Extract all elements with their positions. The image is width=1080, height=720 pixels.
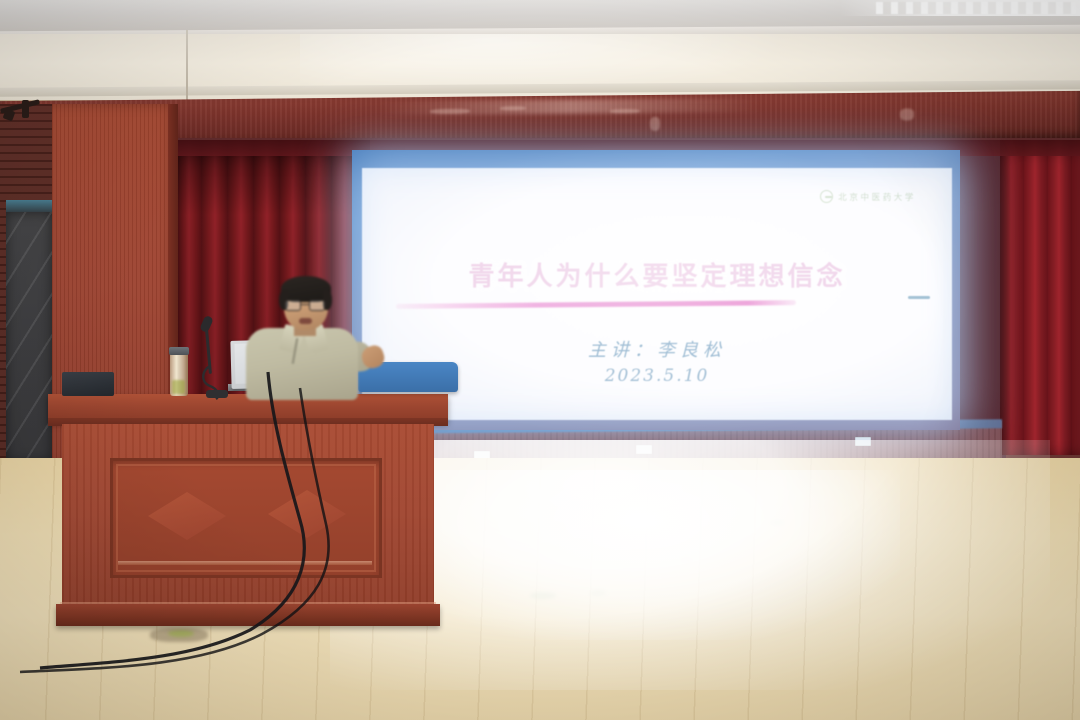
podium-equipment-box [62, 372, 114, 396]
presenter-mouth [299, 318, 312, 324]
beam-scuff [900, 108, 914, 120]
slide-presenter-line: 主讲：李良松 [362, 336, 952, 362]
slide-accent-rule [396, 300, 796, 309]
podium-panel-groove [118, 561, 372, 565]
circular-leaf-logo-icon [820, 190, 833, 203]
presenter-person [244, 276, 364, 398]
beam-scuff [650, 117, 660, 131]
podium-base [56, 604, 440, 626]
beam-scuff [500, 106, 526, 110]
stage-side-door[interactable] [6, 212, 52, 462]
glasses-lens-right [309, 300, 325, 311]
tea-bottle-cap[interactable] [169, 347, 189, 355]
gooseneck-microphone-left[interactable] [198, 316, 228, 396]
glasses-lens-left [285, 300, 301, 311]
beam-scuff [610, 109, 640, 113]
slide-accent-dash [908, 296, 930, 299]
slide-logo-text: 北京中医药大学 [838, 191, 916, 203]
ceiling-light-dots [876, 2, 1076, 14]
slide-title: 青年人为什么要坚定理想信念 [362, 256, 952, 293]
door-diagonal-pattern [6, 212, 52, 462]
floor-light-hotspot [430, 470, 900, 640]
glasses-bridge [301, 304, 309, 305]
beam-scuff [430, 109, 470, 114]
wall-mount-bracket-icon [0, 96, 42, 130]
ceiling-hanging-wire-icon [186, 30, 188, 108]
stage-curtain-right [1000, 140, 1080, 455]
tea-bottle-contents [172, 380, 185, 394]
lecture-hall-scene: 北京中医药大学 青年人为什么要坚定理想信念 主讲：李良松 2023.5.10 [0, 0, 1080, 720]
presenter-glasses-icon [285, 300, 327, 311]
microphone-base [206, 390, 228, 398]
slide-university-logo: 北京中医药大学 [820, 190, 916, 203]
floor-debris-green [168, 630, 194, 637]
ceiling-light-strip [840, 0, 1080, 16]
